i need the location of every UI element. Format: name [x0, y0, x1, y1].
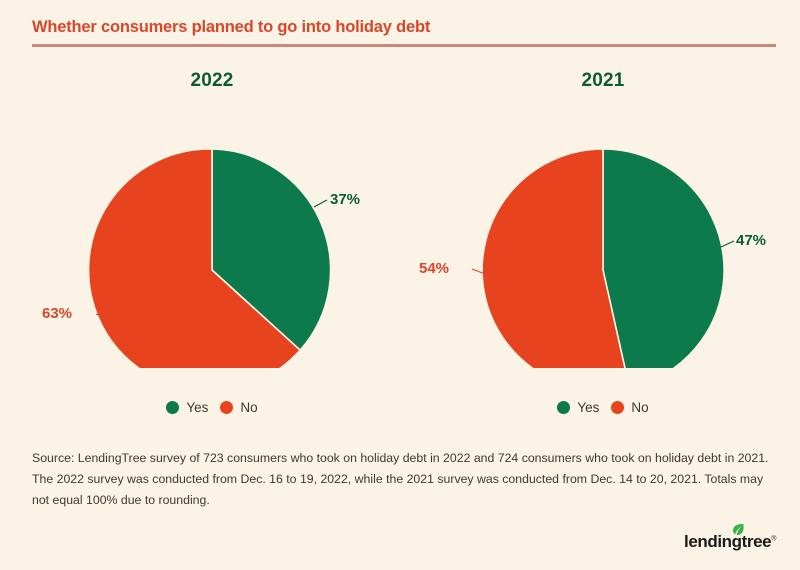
footer: Source: LendingTree survey of 723 consum… [32, 448, 772, 511]
legend-dot-red-icon [611, 401, 624, 414]
legend-item-no[interactable]: No [220, 400, 257, 415]
leader-line-yes [721, 241, 734, 247]
legend-2021: Yes No [403, 400, 800, 415]
pie-area-2022: 37% 63% [12, 96, 412, 368]
legend-label-no: No [240, 400, 257, 415]
panel-year-label: 2021 [403, 70, 800, 96]
pie-chart-2022 [12, 96, 412, 368]
pie-label-no: 54% [419, 260, 449, 277]
panel-2022: 2022 37% 63% Yes [12, 62, 412, 442]
header: Whether consumers planned to go into hol… [32, 16, 776, 47]
leaf-icon [731, 523, 745, 537]
legend-2022: Yes No [12, 400, 412, 415]
leader-line-yes [314, 200, 327, 207]
legend-item-no[interactable]: No [611, 400, 648, 415]
legend-item-yes[interactable]: Yes [166, 400, 208, 415]
legend-dot-red-icon [220, 401, 233, 414]
source-note: Source: LendingTree survey of 723 consum… [32, 448, 772, 511]
pie-label-no: 63% [42, 305, 72, 322]
legend-label-no: No [631, 400, 648, 415]
title-divider [32, 44, 776, 47]
legend-label-yes: Yes [577, 400, 599, 415]
page-title: Whether consumers planned to go into hol… [32, 16, 776, 38]
chart-page: Whether consumers planned to go into hol… [0, 0, 800, 570]
legend-dot-green-icon [166, 401, 179, 414]
legend-label-yes: Yes [186, 400, 208, 415]
logo-trademark-icon: ® [771, 535, 776, 542]
panel-year-label: 2022 [12, 70, 412, 96]
pie-label-yes: 47% [736, 232, 766, 249]
legend-dot-green-icon [557, 401, 570, 414]
pie-area-2021: 47% 54% [403, 96, 800, 368]
logo-text: lendingtree [684, 532, 771, 551]
lendingtree-logo: lendingtree® [684, 528, 776, 556]
pie-slice-yes [603, 149, 724, 368]
pie-label-yes: 37% [330, 191, 360, 208]
panel-2021: 2021 47% 54% Yes [403, 62, 800, 442]
legend-item-yes[interactable]: Yes [557, 400, 599, 415]
logo-wordmark: lendingtree® [684, 532, 776, 552]
chart-panels: 2022 37% 63% Yes [0, 62, 800, 442]
